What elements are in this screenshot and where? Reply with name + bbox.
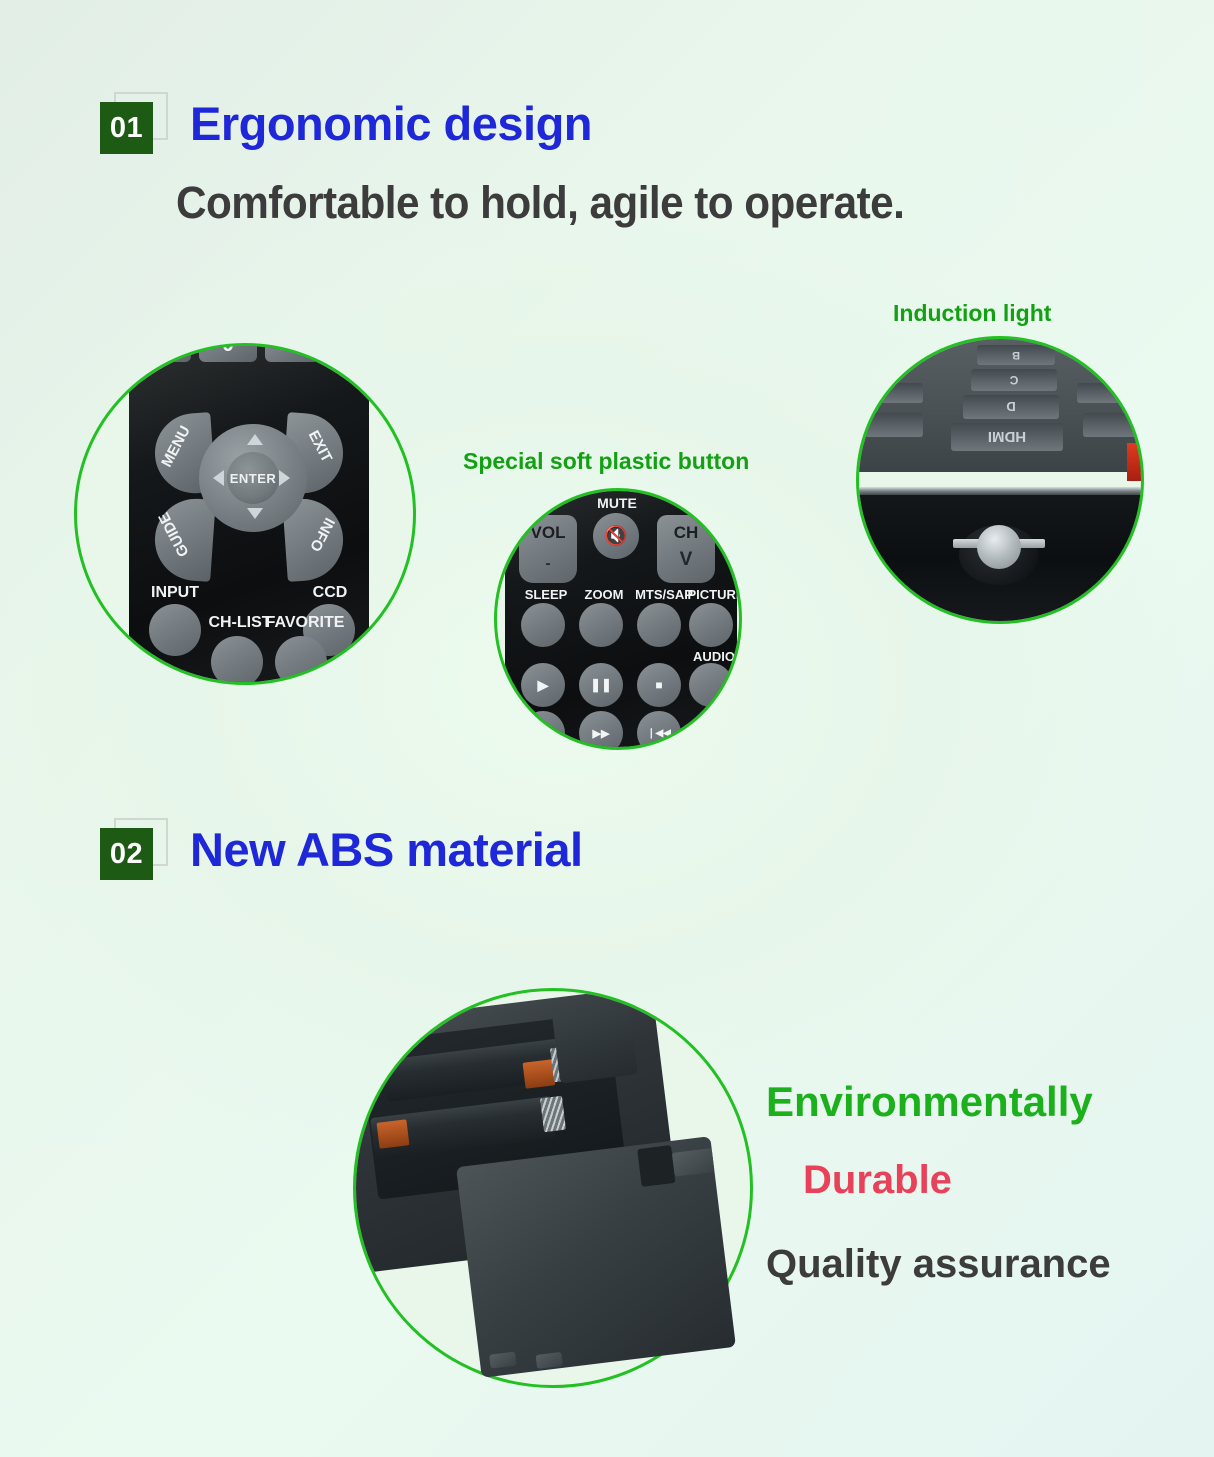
stop-icon: ■ <box>655 678 662 692</box>
key-side-left-upper[interactable] <box>873 383 923 403</box>
key-c-inverted[interactable]: C <box>971 369 1057 391</box>
audio-button[interactable] <box>689 663 733 707</box>
input-button[interactable] <box>149 604 201 656</box>
promo-line-quality-assurance: Quality assurance <box>766 1242 1111 1287</box>
key-side-left-lower[interactable] <box>865 413 923 437</box>
audio-label: AUDIO <box>681 649 742 664</box>
favorite-label: FAVORITE <box>255 614 355 632</box>
arrow-down-icon[interactable] <box>247 508 263 519</box>
badge-number: 01 <box>100 102 153 154</box>
sleep-button[interactable] <box>521 603 565 647</box>
previous-track-button[interactable]: ❘◀◀ <box>637 711 681 750</box>
direction-pad[interactable]: ENTER <box>199 424 307 532</box>
section-02-title: New ABS material <box>190 822 583 877</box>
next-track-icon: ▶▶❘ <box>699 728 723 739</box>
cover-clip-right <box>536 1352 564 1369</box>
pause-icon: ❚❚ <box>590 677 612 693</box>
enter-button[interactable]: ENTER <box>227 452 279 504</box>
section-02-heading: 02 New ABS material <box>100 818 583 880</box>
numeric-key-right[interactable] <box>265 343 319 362</box>
section-01-badge: 01 <box>100 92 174 154</box>
section-02-badge: 02 <box>100 818 174 880</box>
callout-label-soft-plastic-button: Special soft plastic button <box>463 448 749 475</box>
arrow-up-icon[interactable] <box>247 434 263 445</box>
section-01-title: Ergonomic design <box>190 96 592 151</box>
key-b-inverted[interactable]: B <box>977 345 1055 365</box>
promo-line-durable: Durable <box>803 1158 952 1203</box>
ch-list-button[interactable] <box>211 636 263 685</box>
cover-notch <box>637 1145 675 1187</box>
callout-label-induction-light: Induction light <box>893 300 1051 327</box>
mts-sap-button[interactable] <box>637 603 681 647</box>
arrow-left-icon[interactable] <box>213 470 224 486</box>
mute-label: MUTE <box>581 495 653 511</box>
cover-clip-left <box>489 1352 517 1369</box>
key-side-right-lower[interactable] <box>1083 413 1141 437</box>
fast-forward-button[interactable]: ▶▶ <box>579 711 623 750</box>
zoom-label: ZOOM <box>573 587 635 602</box>
numeric-key-left[interactable] <box>137 343 191 362</box>
battery-spring-2 <box>540 1096 566 1132</box>
promo-line-environmentally: Environmentally <box>766 1078 1093 1126</box>
mute-button[interactable]: 🔇 <box>593 513 639 559</box>
callout-circle-navpad: 0 MENU GUIDE EXIT INFO ENTER INPUT CCD C… <box>74 343 416 685</box>
key-d-inverted[interactable]: D <box>963 395 1059 419</box>
channel-down-label: V <box>657 549 715 571</box>
section-01-subtitle: Comfortable to hold, agile to operate. <box>176 177 904 229</box>
picture-label: PICTURE <box>683 587 742 602</box>
battery-door-seat <box>552 1007 638 1084</box>
zoom-button[interactable] <box>579 603 623 647</box>
badge-number: 02 <box>100 828 153 880</box>
volume-down-label: - <box>519 555 577 572</box>
previous-track-icon: ❘◀◀ <box>647 728 671 739</box>
callout-circle-soft-buttons: MUTE 🔇 VOL - CH V SLEEP ZOOM MTS/SAP PIC… <box>494 488 742 750</box>
rewind-icon: ◀◀ <box>535 727 552 740</box>
next-track-button[interactable]: ▶▶❘ <box>689 711 733 750</box>
favorite-button[interactable] <box>275 636 327 685</box>
play-button[interactable]: ▶ <box>521 663 565 707</box>
play-icon: ▶ <box>538 677 549 694</box>
picture-button[interactable] <box>689 603 733 647</box>
speaker-mute-icon: 🔇 <box>604 524 628 548</box>
volume-label: VOL <box>519 523 577 543</box>
callout-circle-induction-light: B C D HDMI <box>856 336 1144 624</box>
callout-circle-battery <box>353 988 753 1388</box>
key-side-right-upper[interactable] <box>1077 383 1127 403</box>
cover-latch-tab <box>672 1148 715 1177</box>
channel-label: CH <box>657 523 715 543</box>
rewind-button[interactable]: ◀◀ <box>521 711 565 750</box>
numeric-key-zero[interactable]: 0 <box>199 343 257 362</box>
power-key-red[interactable] <box>1127 443 1143 481</box>
ccd-label: CCD <box>295 584 365 602</box>
pause-button[interactable]: ❚❚ <box>579 663 623 707</box>
ir-emitter-lead-right <box>1017 539 1045 548</box>
sleep-label: SLEEP <box>515 587 577 602</box>
battery-cover[interactable] <box>456 1136 736 1378</box>
input-label: INPUT <box>135 584 215 602</box>
ir-led-emitter <box>977 525 1021 569</box>
product-infographic-page: 01 Ergonomic design Comfortable to hold,… <box>0 0 1214 1457</box>
arrow-right-icon[interactable] <box>279 470 290 486</box>
stop-button[interactable]: ■ <box>637 663 681 707</box>
key-hdmi-inverted[interactable]: HDMI <box>951 423 1063 451</box>
fast-forward-icon: ▶▶ <box>593 727 610 740</box>
battery-tip-1 <box>523 1059 556 1088</box>
section-01-heading: 01 Ergonomic design <box>100 92 592 154</box>
battery-tip-2 <box>377 1119 410 1148</box>
